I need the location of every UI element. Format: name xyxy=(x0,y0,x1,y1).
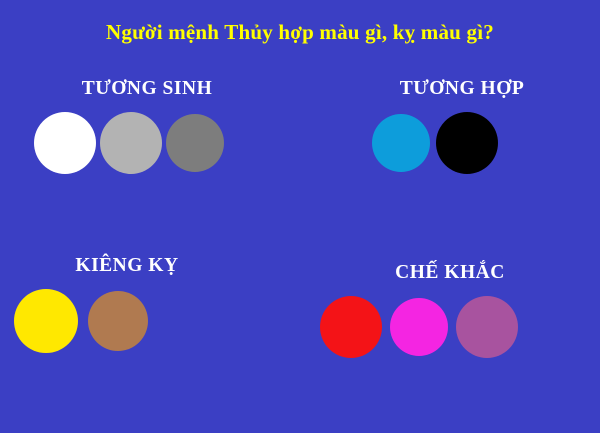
group-tuong-sinh: TƯƠNG SINH xyxy=(28,78,248,174)
page-title: Người mệnh Thủy hợp màu gì, kỵ màu gì? xyxy=(0,20,600,45)
group-kieng-ky: KIÊNG KỴ xyxy=(10,255,210,353)
color-swatch-white xyxy=(34,112,96,174)
color-swatch-red xyxy=(320,296,382,358)
group-title-kieng-ky: KIÊNG KỴ xyxy=(44,255,210,277)
swatch-row-tuong-hop xyxy=(372,112,560,174)
group-title-che-khac: CHẾ KHẮC xyxy=(330,262,570,284)
group-title-tuong-hop: TƯƠNG HỢP xyxy=(364,78,560,100)
swatch-row-kieng-ky xyxy=(14,289,210,353)
color-swatch-black xyxy=(436,112,498,174)
group-tuong-hop: TƯƠNG HỢP xyxy=(360,78,560,174)
group-che-khac: CHẾ KHẮC xyxy=(320,262,570,358)
group-title-tuong-sinh: TƯƠNG SINH xyxy=(46,78,248,100)
swatch-row-tuong-sinh xyxy=(34,112,248,174)
color-swatch-cyan-blue xyxy=(372,114,430,172)
color-swatch-gray xyxy=(166,114,224,172)
color-swatch-purple xyxy=(456,296,518,358)
color-swatch-light-gray xyxy=(100,112,162,174)
color-swatch-magenta xyxy=(390,298,448,356)
color-swatch-yellow xyxy=(14,289,78,353)
infographic-canvas: Người mệnh Thủy hợp màu gì, kỵ màu gì? T… xyxy=(0,0,600,433)
swatch-row-che-khac xyxy=(320,296,570,358)
color-swatch-brown xyxy=(88,291,148,351)
